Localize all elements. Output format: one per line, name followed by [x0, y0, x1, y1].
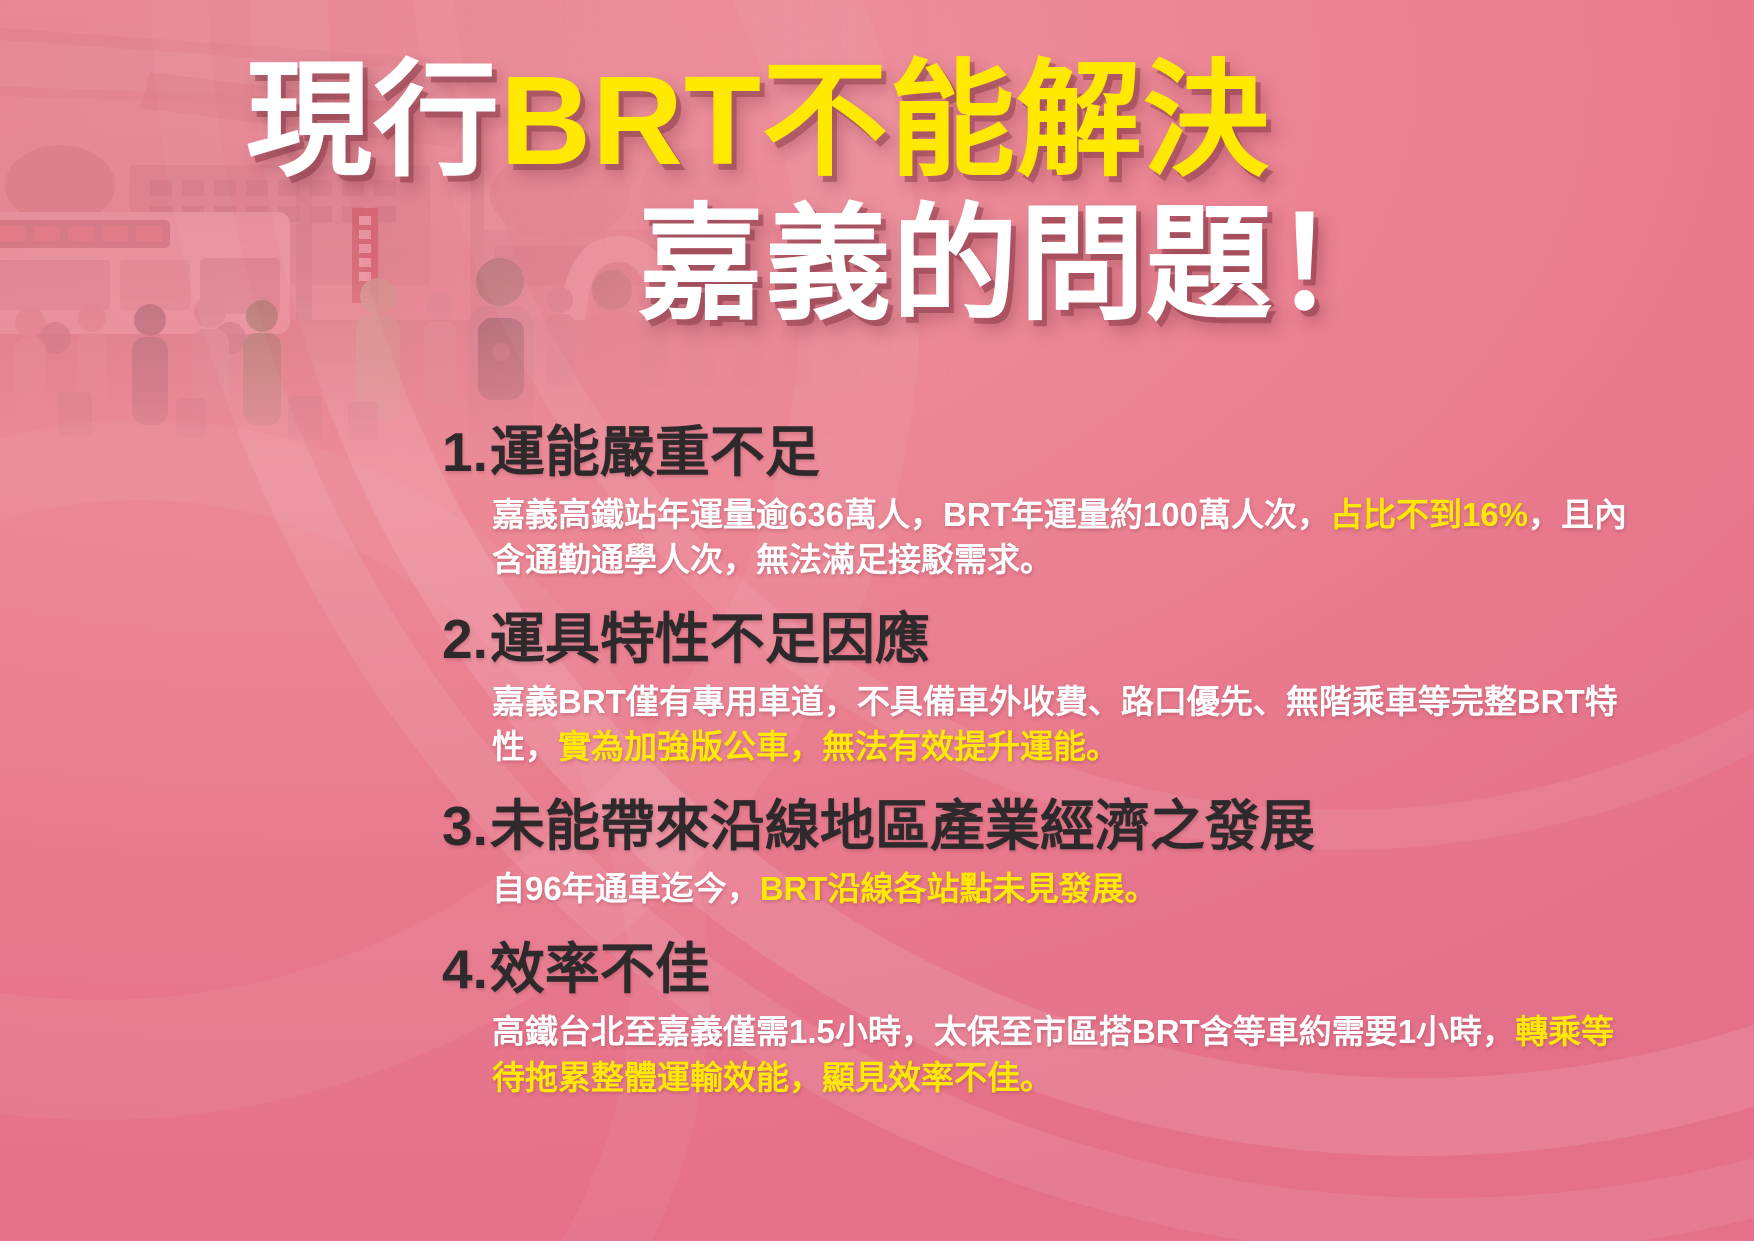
item-2-body-highlight: 實為加強版公車，無法有效提升運能。	[558, 728, 1119, 765]
item-2-title: 運具特性不足因應	[490, 607, 930, 672]
slide-root: 現行BRT不能解決 嘉義的問題！ 1. 運能嚴重不足 嘉義高鐵站年運量逾636萬…	[0, 0, 1754, 1241]
item-2-number: 2.	[442, 607, 488, 672]
item-1-heading: 1. 運能嚴重不足	[442, 420, 1642, 485]
list-item: 1. 運能嚴重不足 嘉義高鐵站年運量逾636萬人，BRT年運量約100萬人次，占…	[442, 420, 1642, 583]
list-item: 2. 運具特性不足因應 嘉義BRT僅有專用車道，不具備車外收費、路口優先、無階乘…	[442, 607, 1642, 770]
item-1-body: 嘉義高鐵站年運量逾636萬人，BRT年運量約100萬人次，占比不到16%，且內含…	[492, 492, 1637, 583]
item-3-body-highlight: BRT沿線各站點未見發展。	[760, 870, 1158, 907]
item-4-heading: 4. 效率不佳	[442, 937, 1642, 1002]
list-item: 4. 效率不佳 高鐵台北至嘉義僅需1.5小時，太保至市區搭BRT含等車約需要1小…	[442, 937, 1642, 1100]
item-3-body-part-1: 自96年通車迄今，	[492, 870, 760, 907]
item-3-body: 自96年通車迄今，BRT沿線各站點未見發展。	[492, 866, 1637, 912]
item-2-heading: 2. 運具特性不足因應	[442, 607, 1642, 672]
item-1-title: 運能嚴重不足	[490, 420, 820, 485]
problem-list: 1. 運能嚴重不足 嘉義高鐵站年運量逾636萬人，BRT年運量約100萬人次，占…	[442, 420, 1642, 1100]
item-3-heading: 3. 未能帶來沿線地區產業經濟之發展	[442, 794, 1642, 859]
title-line-2: 嘉義的問題！	[0, 202, 1600, 328]
item-3-number: 3.	[442, 794, 488, 859]
slide-title: 現行BRT不能解決 嘉義的問題！	[0, 58, 1600, 328]
item-1-body-part-1: 嘉義高鐵站年運量逾636萬人，BRT年運量約100萬人次，	[492, 496, 1330, 533]
title-prefix: 現行	[246, 50, 500, 191]
item-4-body-part-1: 高鐵台北至嘉義僅需1.5小時，太保至市區搭BRT含等車約需要1小時，	[492, 1013, 1515, 1050]
item-4-title: 效率不佳	[490, 937, 710, 1002]
item-1-body-highlight: 占比不到16%	[1330, 496, 1528, 533]
list-item: 3. 未能帶來沿線地區產業經濟之發展 自96年通車迄今，BRT沿線各站點未見發展…	[442, 794, 1642, 911]
item-4-body: 高鐵台北至嘉義僅需1.5小時，太保至市區搭BRT含等車約需要1小時，轉乘等待拖累…	[492, 1009, 1637, 1100]
title-highlight: BRT不能解決	[500, 50, 1270, 191]
item-4-number: 4.	[442, 937, 488, 1002]
item-3-title: 未能帶來沿線地區產業經濟之發展	[490, 794, 1315, 859]
title-line-1: 現行BRT不能解決	[0, 58, 1600, 184]
item-2-body: 嘉義BRT僅有專用車道，不具備車外收費、路口優先、無階乘車等完整BRT特性，實為…	[492, 679, 1637, 770]
item-1-number: 1.	[442, 420, 488, 485]
